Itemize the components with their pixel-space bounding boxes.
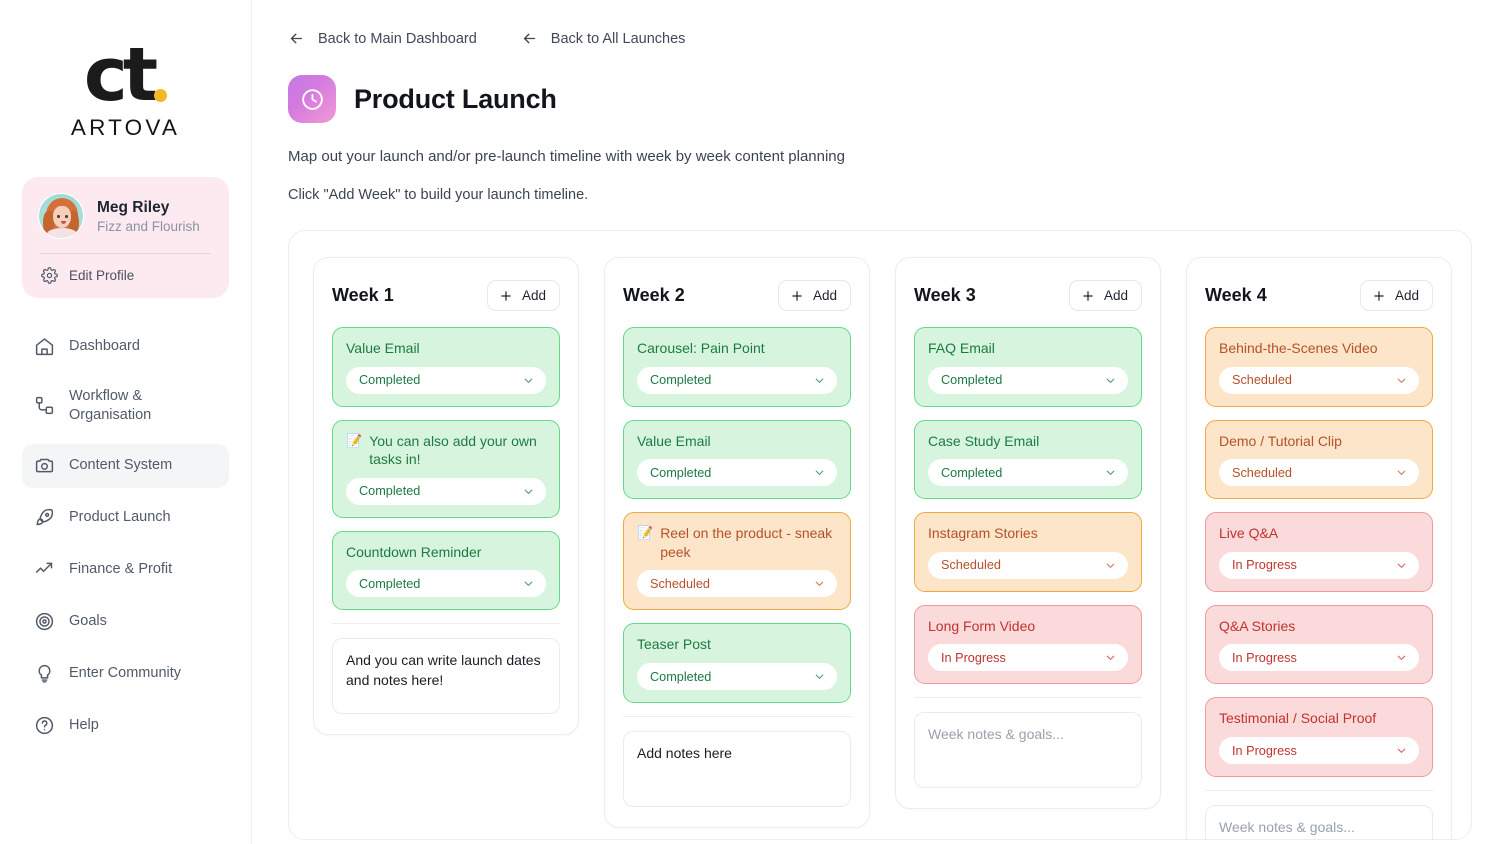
sidebar-item-label: Dashboard	[69, 337, 140, 356]
sidebar-item-label: Content System	[69, 456, 172, 475]
sidebar-item-label: Finance & Profit	[69, 560, 172, 579]
timeline-board-container: Week 1AddValue EmailCompleted📝You can al…	[288, 230, 1472, 840]
divider	[623, 716, 851, 717]
status-dropdown[interactable]: Scheduled	[1219, 367, 1419, 394]
week-column: Week 3AddFAQ EmailCompletedCase Study Em…	[895, 257, 1161, 809]
status-value: Completed	[359, 484, 420, 498]
task-title: Live Q&A	[1219, 524, 1419, 543]
status-value: Completed	[359, 577, 420, 591]
chevron-down-icon	[1395, 744, 1408, 757]
status-dropdown[interactable]: Completed	[637, 367, 837, 394]
status-value: Scheduled	[941, 558, 1001, 572]
chevron-down-icon	[1104, 466, 1117, 479]
sidebar-item-label: Product Launch	[69, 508, 171, 527]
sidebar-item-enter-community[interactable]: Enter Community	[22, 652, 229, 696]
chevron-down-icon	[1104, 651, 1117, 664]
trending-up-icon	[34, 559, 55, 580]
task-title: FAQ Email	[928, 339, 1128, 358]
task-title: Teaser Post	[637, 635, 837, 654]
camera-icon	[34, 455, 55, 476]
task-name: Value Email	[637, 432, 711, 451]
chevron-down-icon	[813, 374, 826, 387]
memo-icon: 📝	[346, 432, 362, 450]
plus-icon	[790, 289, 804, 303]
task-card[interactable]: FAQ EmailCompleted	[914, 327, 1142, 407]
week-notes-input[interactable]: And you can write launch dates and notes…	[332, 638, 560, 714]
sidebar-item-dashboard[interactable]: Dashboard	[22, 324, 229, 368]
add-task-button[interactable]: Add	[1360, 280, 1433, 311]
main-content: Back to Main Dashboard Back to All Launc…	[252, 0, 1500, 844]
task-name: Case Study Email	[928, 432, 1039, 451]
status-dropdown[interactable]: Scheduled	[1219, 459, 1419, 486]
task-title: Instagram Stories	[928, 524, 1128, 543]
status-dropdown[interactable]: In Progress	[1219, 644, 1419, 671]
sidebar-item-label: Workflow & Organisation	[69, 387, 217, 425]
chevron-down-icon	[1395, 651, 1408, 664]
task-title: Value Email	[346, 339, 546, 358]
task-name: FAQ Email	[928, 339, 995, 358]
status-value: In Progress	[1232, 744, 1297, 758]
question-circle-icon	[34, 715, 55, 736]
status-value: Scheduled	[1232, 466, 1292, 480]
back-to-main-dashboard-link[interactable]: Back to Main Dashboard	[288, 30, 477, 47]
task-card[interactable]: Value EmailCompleted	[332, 327, 560, 407]
rocket-icon	[34, 507, 55, 528]
add-label: Add	[813, 288, 837, 303]
sidebar-item-content-system[interactable]: Content System	[22, 444, 229, 488]
week-notes-input[interactable]: Week notes & goals...	[914, 712, 1142, 788]
workflow-icon	[34, 395, 55, 416]
target-icon	[34, 611, 55, 632]
status-dropdown[interactable]: Completed	[928, 459, 1128, 486]
task-name: Reel on the product - sneak peek	[660, 524, 837, 561]
task-card[interactable]: 📝You can also add your own tasks in!Comp…	[332, 420, 560, 518]
divider	[40, 253, 211, 254]
task-title: Carousel: Pain Point	[637, 339, 837, 358]
add-label: Add	[1395, 288, 1419, 303]
week-header: Week 1Add	[332, 280, 560, 311]
logo-mark: ct	[0, 34, 251, 106]
week-title: Week 2	[623, 285, 685, 306]
task-name: Testimonial / Social Proof	[1219, 709, 1376, 728]
task-name: Instagram Stories	[928, 524, 1038, 543]
profile-card: Meg Riley Fizz and Flourish Edit Profile	[22, 177, 229, 298]
logo-dot-icon	[154, 89, 167, 102]
profile-name: Meg Riley	[97, 198, 200, 217]
task-title: 📝You can also add your own tasks in!	[346, 432, 546, 469]
status-value: Completed	[359, 373, 420, 387]
sidebar-item-label: Enter Community	[69, 664, 181, 683]
task-card[interactable]: Countdown ReminderCompleted	[332, 531, 560, 611]
chevron-down-icon	[1395, 466, 1408, 479]
profile-header: Meg Riley Fizz and Flourish	[38, 193, 213, 239]
task-name: Live Q&A	[1219, 524, 1278, 543]
task-title: Countdown Reminder	[346, 543, 546, 562]
task-title: Q&A Stories	[1219, 617, 1419, 636]
week-header: Week 2Add	[623, 280, 851, 311]
task-title: Value Email	[637, 432, 837, 451]
avatar[interactable]	[38, 193, 84, 239]
gear-icon	[41, 267, 58, 284]
week-header: Week 3Add	[914, 280, 1142, 311]
status-dropdown[interactable]: Completed	[346, 478, 546, 505]
week-column: Week 1AddValue EmailCompleted📝You can al…	[313, 257, 579, 735]
task-name: Demo / Tutorial Clip	[1219, 432, 1342, 451]
task-title: Case Study Email	[928, 432, 1128, 451]
task-title: Long Form Video	[928, 617, 1128, 636]
task-card[interactable]: Long Form VideoIn Progress	[914, 605, 1142, 685]
plus-icon	[499, 289, 513, 303]
week-column: Week 4AddBehind-the-Scenes VideoSchedule…	[1186, 257, 1452, 840]
task-card[interactable]: Value EmailCompleted	[623, 420, 851, 500]
arrow-left-icon	[288, 30, 305, 47]
memo-icon: 📝	[637, 524, 653, 542]
brand-name: ARTOVA	[0, 115, 251, 141]
home-icon	[34, 336, 55, 357]
task-card[interactable]: Testimonial / Social ProofIn Progress	[1205, 697, 1433, 777]
profile-business: Fizz and Flourish	[97, 219, 200, 234]
task-card[interactable]: Case Study EmailCompleted	[914, 420, 1142, 500]
chevron-down-icon	[1104, 374, 1117, 387]
plus-icon	[1081, 289, 1095, 303]
chevron-down-icon	[813, 466, 826, 479]
status-value: In Progress	[1232, 558, 1297, 572]
status-value: Completed	[941, 373, 1002, 387]
status-dropdown[interactable]: In Progress	[1219, 737, 1419, 764]
status-dropdown[interactable]: Scheduled	[637, 570, 837, 597]
add-label: Add	[1104, 288, 1128, 303]
task-title: 📝Reel on the product - sneak peek	[637, 524, 837, 561]
page-icon-badge	[288, 75, 336, 123]
divider	[332, 623, 560, 624]
backlink-label: Back to All Launches	[551, 31, 686, 47]
sidebar-item-help[interactable]: Help	[22, 704, 229, 748]
back-to-all-launches-link[interactable]: Back to All Launches	[521, 30, 686, 47]
status-dropdown[interactable]: Completed	[637, 663, 837, 690]
status-value: Completed	[650, 373, 711, 387]
task-card[interactable]: Teaser PostCompleted	[623, 623, 851, 703]
status-value: Completed	[650, 466, 711, 480]
arrow-left-icon	[521, 30, 538, 47]
status-value: Completed	[650, 670, 711, 684]
clock-icon	[300, 87, 325, 112]
brand-logo[interactable]: ct ARTOVA	[0, 0, 251, 149]
sidebar-item-product-launch[interactable]: Product Launch	[22, 496, 229, 540]
backlink-label: Back to Main Dashboard	[318, 31, 477, 47]
task-card[interactable]: Live Q&AIn Progress	[1205, 512, 1433, 592]
status-value: Scheduled	[1232, 373, 1292, 387]
chevron-down-icon	[1104, 559, 1117, 572]
status-dropdown[interactable]: Completed	[346, 367, 546, 394]
week-notes-input[interactable]: Week notes & goals...	[1205, 805, 1433, 840]
chevron-down-icon	[522, 577, 535, 590]
add-task-button[interactable]: Add	[1069, 280, 1142, 311]
status-dropdown[interactable]: In Progress	[1219, 552, 1419, 579]
sidebar-item-goals[interactable]: Goals	[22, 600, 229, 644]
task-title: Demo / Tutorial Clip	[1219, 432, 1419, 451]
status-value: Scheduled	[650, 577, 710, 591]
task-name: Q&A Stories	[1219, 617, 1295, 636]
task-name: Behind-the-Scenes Video	[1219, 339, 1378, 358]
week-title: Week 1	[332, 285, 394, 306]
lightbulb-icon	[34, 663, 55, 684]
status-value: In Progress	[941, 651, 1006, 665]
app-root: ct ARTOVA Meg Riley Fizz and Flourish	[0, 0, 1500, 844]
edit-profile-button[interactable]: Edit Profile	[38, 267, 213, 284]
task-card[interactable]: 📝Reel on the product - sneak peekSchedul…	[623, 512, 851, 610]
chevron-down-icon	[1395, 559, 1408, 572]
week-title: Week 4	[1205, 285, 1267, 306]
sidebar-item-workflow-organisation[interactable]: Workflow & Organisation	[22, 376, 229, 436]
status-dropdown[interactable]: Completed	[637, 459, 837, 486]
status-dropdown[interactable]: Scheduled	[928, 552, 1128, 579]
task-name: Carousel: Pain Point	[637, 339, 765, 358]
add-task-button[interactable]: Add	[778, 280, 851, 311]
task-card[interactable]: Q&A StoriesIn Progress	[1205, 605, 1433, 685]
task-title: Testimonial / Social Proof	[1219, 709, 1419, 728]
chevron-down-icon	[522, 485, 535, 498]
sidebar-nav: Dashboard Workflow & Organisation	[0, 324, 251, 748]
edit-profile-label: Edit Profile	[69, 268, 134, 283]
sidebar: ct ARTOVA Meg Riley Fizz and Flourish	[0, 0, 252, 844]
week-column: Week 2AddCarousel: Pain PointCompletedVa…	[604, 257, 870, 828]
task-name: Countdown Reminder	[346, 543, 481, 562]
task-name: Long Form Video	[928, 617, 1035, 636]
chevron-down-icon	[813, 577, 826, 590]
task-card[interactable]: Carousel: Pain PointCompleted	[623, 327, 851, 407]
sidebar-item-finance-profit[interactable]: Finance & Profit	[22, 548, 229, 592]
task-name: Teaser Post	[637, 635, 711, 654]
sidebar-item-label: Goals	[69, 612, 107, 631]
timeline-board: Week 1AddValue EmailCompleted📝You can al…	[313, 257, 1447, 815]
week-notes-input[interactable]: Add notes here	[623, 731, 851, 807]
status-dropdown[interactable]: Completed	[346, 570, 546, 597]
task-title: Behind-the-Scenes Video	[1219, 339, 1419, 358]
week-header: Week 4Add	[1205, 280, 1433, 311]
task-name: Value Email	[346, 339, 420, 358]
status-value: Completed	[941, 466, 1002, 480]
logo-glyph: ct	[84, 44, 153, 106]
status-value: In Progress	[1232, 651, 1297, 665]
status-dropdown[interactable]: In Progress	[928, 644, 1128, 671]
add-label: Add	[522, 288, 546, 303]
chevron-down-icon	[522, 374, 535, 387]
chevron-down-icon	[813, 670, 826, 683]
page-title: Product Launch	[354, 84, 557, 115]
divider	[1205, 790, 1433, 791]
divider	[914, 697, 1142, 698]
page-title-row: Product Launch	[252, 75, 1500, 123]
chevron-down-icon	[1395, 374, 1408, 387]
plus-icon	[1372, 289, 1386, 303]
task-card[interactable]: Instagram StoriesScheduled	[914, 512, 1142, 592]
task-name: You can also add your own tasks in!	[369, 432, 546, 469]
page-subtitle: Map out your launch and/or pre-launch ti…	[252, 148, 1500, 165]
status-dropdown[interactable]: Completed	[928, 367, 1128, 394]
page-hint: Click "Add Week" to build your launch ti…	[252, 187, 1500, 203]
task-card[interactable]: Demo / Tutorial ClipScheduled	[1205, 420, 1433, 500]
task-card[interactable]: Behind-the-Scenes VideoScheduled	[1205, 327, 1433, 407]
week-title: Week 3	[914, 285, 976, 306]
add-task-button[interactable]: Add	[487, 280, 560, 311]
breadcrumb: Back to Main Dashboard Back to All Launc…	[252, 30, 1500, 47]
sidebar-item-label: Help	[69, 716, 99, 735]
